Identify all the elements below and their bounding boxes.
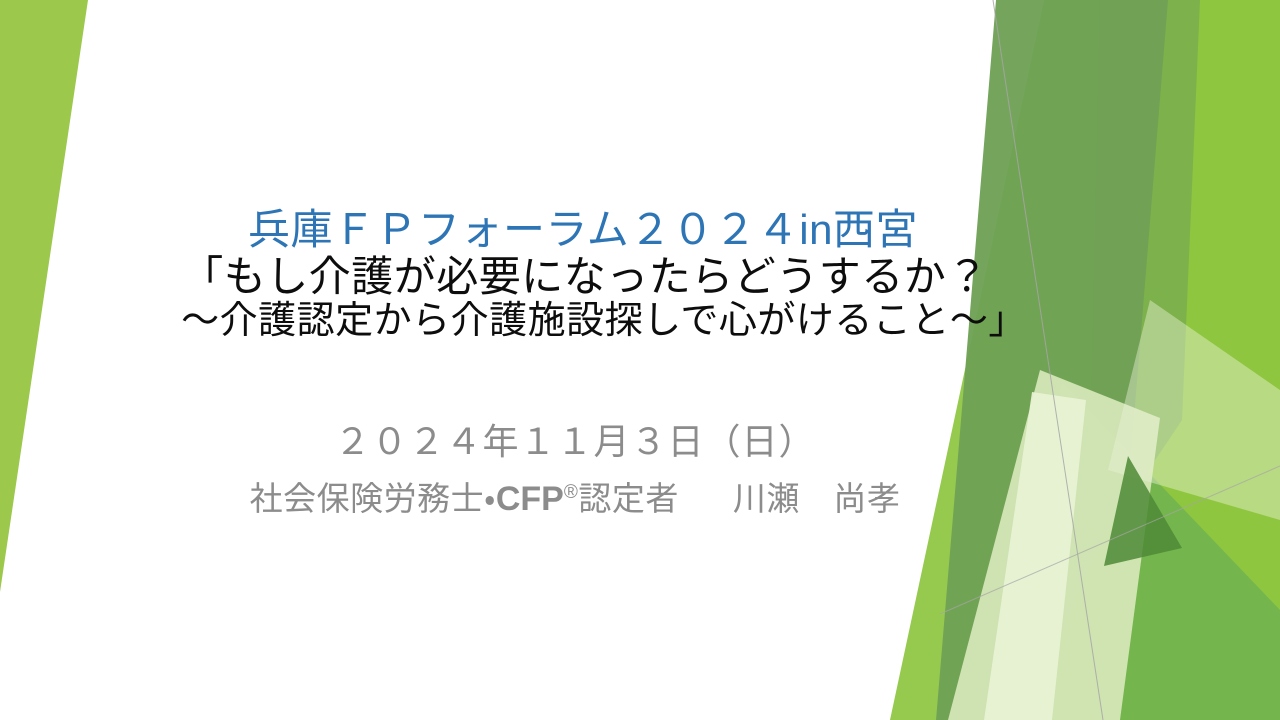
title-line-secondary: 「もし介護が必要になったらどうするか？ [10, 253, 1160, 300]
right-bright-green-panel [980, 0, 1280, 720]
cfp-credential-mark: CFP [496, 480, 564, 518]
title-line-tertiary: 〜介護認定から介護施設探しで心がけること〜」 [48, 300, 1160, 343]
registered-trademark-icon: ® [564, 482, 579, 503]
right-lime-sweep [890, 0, 1280, 720]
event-date: ２０２４年１１月３日（日） [0, 418, 1150, 467]
hairline-diagonal-primary [993, 0, 1103, 720]
slide-subtitle: ２０２４年１１月３日（日） 社会保険労務士・CFP®認定者川瀬 尚孝 [0, 418, 1150, 522]
title-line-primary: 兵庫ＦＰフォーラム２０２４in西宮 [6, 206, 1160, 253]
slide-title: 兵庫ＦＰフォーラム２０２４in西宮 「もし介護が必要になったらどうするか？ 〜介… [0, 206, 1160, 343]
background-decoration [0, 0, 1280, 720]
right-olive-band [936, 0, 1168, 720]
presentation-slide: 兵庫ＦＰフォーラム２０２４in西宮 「もし介護が必要になったらどうするか？ 〜介… [0, 0, 1280, 720]
credential-suffix: 認定者 [578, 480, 679, 517]
presenter-credentials-line: 社会保険労務士・CFP®認定者川瀬 尚孝 [0, 477, 1150, 523]
presenter-name: 川瀬 尚孝 [733, 480, 901, 517]
credential-prefix: 社会保険労務士・ [250, 480, 496, 517]
